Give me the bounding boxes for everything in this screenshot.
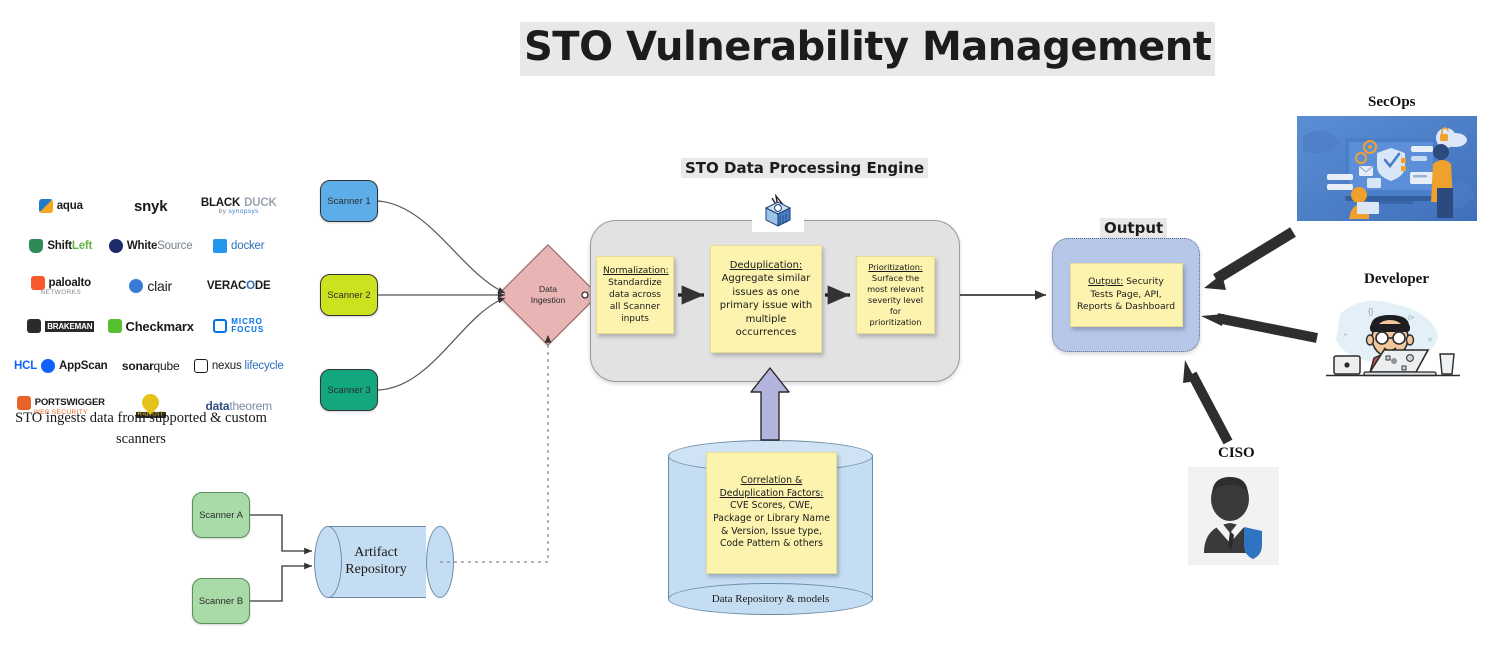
whitesource-icon <box>109 239 123 253</box>
cube-icon <box>752 192 804 232</box>
sticky-note-correlation: Correlation & Deduplication Factors: CVE… <box>706 452 837 574</box>
logo-aqua: aqua <box>39 199 83 213</box>
svg-text:*: * <box>1344 333 1347 340</box>
logo-clair: clair <box>129 278 172 294</box>
scanner-2-box[interactable]: Scanner 2 <box>320 274 378 316</box>
normalization-body: Standardize data across all Scanner inpu… <box>603 277 667 326</box>
aqua-icon <box>39 199 53 213</box>
hcl-icon <box>41 359 55 373</box>
correlation-heading: Correlation & Deduplication Factors: <box>713 475 830 500</box>
docker-icon <box>213 239 227 253</box>
scanner-a-box[interactable]: Scanner A <box>192 492 250 538</box>
shiftleft-icon <box>29 239 43 253</box>
logo-paloalto: paloaltoNETWORKS <box>31 276 92 297</box>
correlation-body: CVE Scores, CWE, Package or Library Name… <box>713 500 830 550</box>
logo-veracode: VERACODE <box>207 280 271 292</box>
logo-snyk: snyk <box>134 198 167 215</box>
svg-text:<: < <box>1428 337 1432 344</box>
scanner-logo-grid: aqua snyk BLACKDUCKby synopsys ShiftLeft… <box>14 186 276 426</box>
output-heading: Output <box>1100 218 1167 238</box>
persona-label-ciso: CISO <box>1218 445 1255 462</box>
data-ingestion-node[interactable]: DataIngestion <box>512 259 584 331</box>
artifact-repo-label: ArtifactRepository <box>320 526 440 598</box>
scanner-b-label: Scanner B <box>199 596 243 607</box>
secops-illustration <box>1297 116 1477 221</box>
logo-hcl-appscan: HCLAppScan <box>14 359 108 373</box>
output-container[interactable]: Output: Security Tests Page, API, Report… <box>1052 238 1200 352</box>
brakeman-icon <box>27 319 41 333</box>
edge-secops-output <box>1216 232 1293 279</box>
ciso-illustration <box>1188 467 1279 565</box>
scanner-1-label: Scanner 1 <box>327 196 370 207</box>
checkmarx-icon <box>108 319 122 333</box>
logo-sonarqube: sonarqube <box>122 359 180 373</box>
logo-docker: docker <box>213 239 264 253</box>
sticky-note-prioritization: Prioritization: Surface the most relevan… <box>856 256 935 334</box>
artifact-repository[interactable]: ArtifactRepository <box>320 526 440 598</box>
nexus-icon <box>194 359 208 373</box>
logo-nexus-lifecycle: nexus lifecycle <box>194 359 284 373</box>
sticky-note-output: Output: Security Tests Page, API, Report… <box>1070 263 1183 327</box>
scanner-3-box[interactable]: Scanner 3 <box>320 369 378 411</box>
data-repository-label: Data Repository & models <box>668 593 873 607</box>
microfocus-icon <box>213 319 227 333</box>
scanner-3-label: Scanner 3 <box>327 385 370 396</box>
deduplication-heading: Deduplication: <box>717 259 815 273</box>
logo-shiftleft: ShiftLeft <box>29 239 92 253</box>
clair-icon <box>129 279 143 293</box>
ingest-caption: STO ingests data from supported & custom… <box>10 408 272 450</box>
edge-developer-output <box>1217 318 1317 338</box>
edge-scanner1-ingestion <box>378 201 505 293</box>
data-ingestion-label: DataIngestion <box>512 259 584 331</box>
edge-scannerB-artifact <box>250 566 312 601</box>
prioritization-body: Surface the most relevant severity level… <box>863 273 928 328</box>
diagram-canvas: STO Vulnerability Management aqua snyk B… <box>0 0 1494 664</box>
edge-artifact-ingestion <box>440 335 548 562</box>
sticky-note-deduplication: Deduplication: Aggregate similar issues … <box>710 245 822 353</box>
engine-heading: STO Data Processing Engine <box>681 158 928 178</box>
edge-scannerA-artifact <box>250 515 312 551</box>
scanner-a-label: Scanner A <box>199 510 243 521</box>
page-title: STO Vulnerability Management <box>520 22 1215 76</box>
output-note-text: Output: Security Tests Page, API, Report… <box>1077 276 1176 313</box>
persona-label-developer: Developer <box>1364 271 1429 288</box>
edge-ciso-output <box>1192 374 1228 442</box>
scanner-1-box[interactable]: Scanner 1 <box>320 180 378 222</box>
svg-text:/>: /> <box>1408 315 1414 322</box>
deduplication-body: Aggregate similar issues as one primary … <box>717 272 815 340</box>
svg-text:{}: {} <box>1368 307 1374 316</box>
logo-whitesource: WhiteSource <box>109 239 193 253</box>
persona-label-secops: SecOps <box>1368 94 1416 111</box>
sticky-note-normalization: Normalization: Standardize data across a… <box>596 256 674 334</box>
logo-microfocus: MICROFOCUS <box>213 318 264 335</box>
prioritization-heading: Prioritization: <box>863 262 928 273</box>
logo-blackduck: BLACKDUCKby synopsys <box>201 197 277 216</box>
scanner-b-box[interactable]: Scanner B <box>192 578 250 624</box>
logo-brakeman: BRAKEMAN <box>27 319 94 333</box>
normalization-heading: Normalization: <box>603 265 667 277</box>
edge-scanner3-ingestion <box>378 298 505 390</box>
developer-illustration: {} /> * < <box>1320 288 1465 378</box>
paloalto-icon <box>31 276 45 290</box>
scanner-2-label: Scanner 2 <box>327 290 370 301</box>
logo-checkmarx: Checkmarx <box>108 319 194 334</box>
